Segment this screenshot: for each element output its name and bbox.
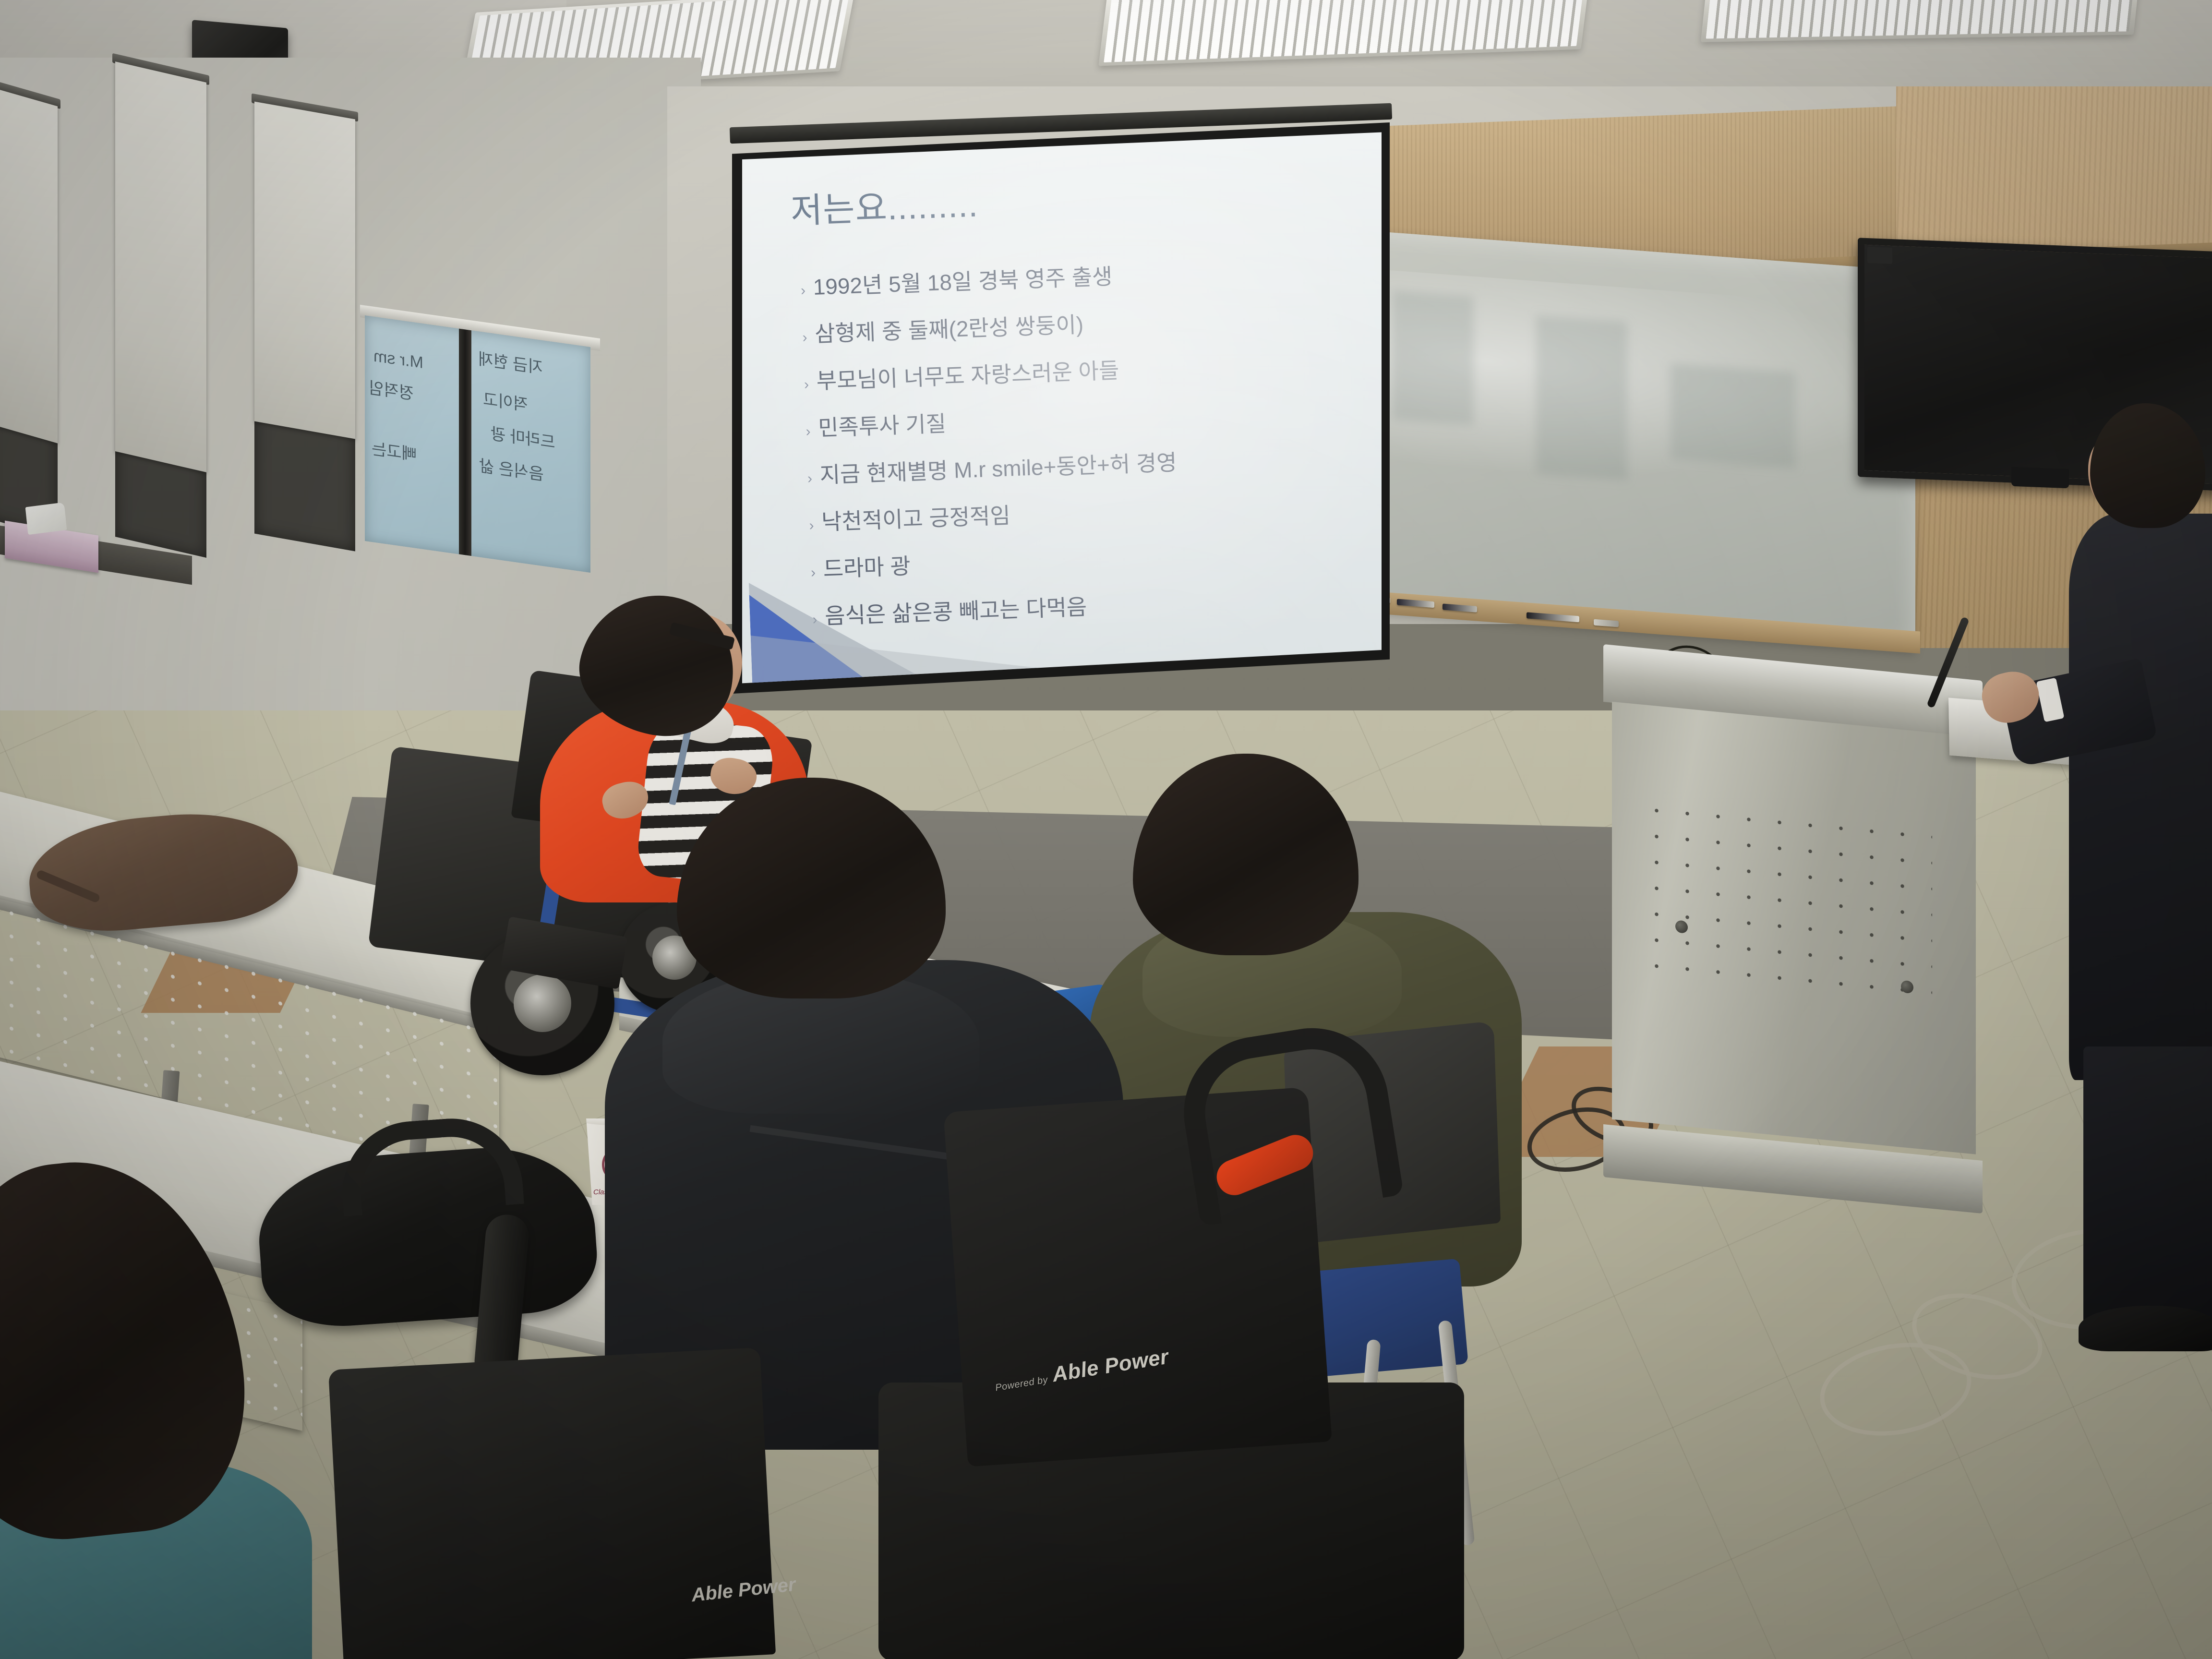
reflection-line: 지금 현재 [478, 348, 543, 380]
slide-title: 저는요......... [790, 176, 979, 233]
bullet-text: 민족투사 기질 [817, 406, 947, 442]
slide-bullet-item: › 1992년 5월 18일 경북 영주 출생 [800, 251, 1338, 302]
reflection-line: 정적임 [369, 376, 414, 406]
tv-wall-mount [2011, 467, 2069, 489]
foreground-powered-wheelchair: Powered by Able Power [878, 1027, 1464, 1659]
classroom-scene: M.r sm 정적임 빼고는 지금 현재 적이고 드라마 광 음식은 삶 Len… [0, 0, 2212, 1659]
person-presenter-standing [2069, 403, 2212, 1339]
window-blind [0, 85, 58, 538]
suit-trousers [2083, 1046, 2212, 1325]
wheelchair-push-handle[interactable] [1173, 1017, 1404, 1226]
whiteboard [1334, 228, 1915, 650]
hair [677, 778, 946, 998]
projected-slide: 저는요......... › 1992년 5월 18일 경북 영주 출생 › 삼… [742, 131, 1382, 685]
window-glass-reflection: M.r sm 정적임 빼고는 지금 현재 적이고 드라마 광 음식은 삶 [365, 315, 590, 573]
bullet-marker-icon: › [800, 284, 805, 298]
slide-bullet-item: › 민족투사 기질 [805, 392, 1344, 443]
bullet-marker-icon: › [802, 330, 807, 345]
bullet-text: 부모님이 너무도 자랑스러운 아들 [816, 353, 1119, 396]
tv-logo-badge [1867, 247, 1892, 264]
reflection-line: 빼고는 [372, 437, 417, 467]
wheelchair-backrest [328, 1347, 776, 1659]
bullet-marker-icon: › [809, 518, 814, 533]
person-attendee-foreground-left [0, 1162, 365, 1659]
reflection-line: 음식은 삶 [479, 454, 544, 487]
bullet-marker-icon: › [804, 377, 809, 392]
suit-jacket [2069, 514, 2212, 1080]
bullet-text: 1992년 5월 18일 경북 영주 출생 [812, 259, 1113, 301]
slide-bullet-item: › 부모님이 너무도 자랑스러운 아들 [803, 345, 1342, 396]
slide-decoration [748, 556, 1107, 685]
bullet-text: 삼형제 중 둘째(2란성 쌍둥이) [814, 307, 1084, 349]
window-blind [254, 101, 355, 551]
slide-bullet-item: › 삼형제 중 둘째(2란성 쌍둥이) [802, 298, 1340, 349]
reflection-line: 드라마 광 [491, 422, 555, 455]
dress-shoe [2079, 1306, 2212, 1351]
bullet-marker-icon: › [807, 471, 813, 486]
bullet-marker-icon: › [805, 424, 811, 439]
reflection-line: M.r sm [373, 345, 423, 375]
slide-bullet-item: › 낙천적이고 긍정적임 [808, 486, 1347, 537]
hair [2090, 403, 2205, 528]
reflection-line: 적이고 [483, 388, 528, 418]
foreground-wheelchair-bottom [336, 1358, 840, 1659]
window-blind [115, 61, 206, 558]
lectern-podium[interactable] [1603, 644, 1983, 1214]
slide-bullet-item: › 지금 현재별명 M.r smile+동안+허 경영 [807, 439, 1346, 490]
hair [1133, 754, 1358, 955]
bullet-text: 지금 현재별명 M.r smile+동안+허 경영 [819, 445, 1177, 490]
bullet-text: 낙천적이고 긍정적임 [821, 498, 1011, 537]
slide-deco-svg [748, 556, 1107, 685]
